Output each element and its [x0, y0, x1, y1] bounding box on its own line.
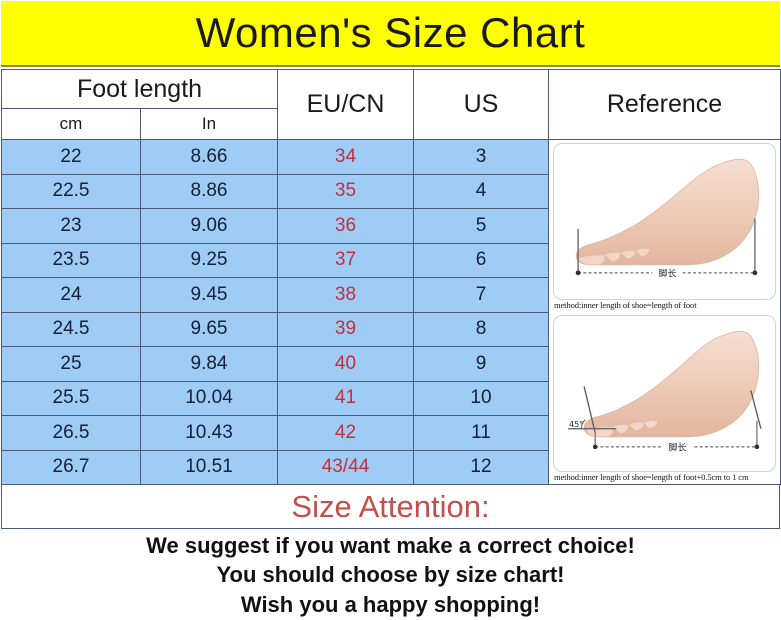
size-attention-heading: Size Attention: [291, 491, 489, 522]
cell-us: 12 [414, 450, 549, 485]
cell-us: 5 [414, 209, 549, 244]
reference-column-cell: 脚长 method:inner length of shoe=length of… [549, 140, 781, 485]
cell-eu-cn: 36 [278, 209, 414, 244]
advice-line-3: Wish you a happy shopping! [241, 590, 540, 619]
cell-us: 6 [414, 243, 549, 278]
header-in: In [141, 109, 278, 140]
chart-title-banner: Women's Size Chart [1, 1, 780, 67]
reference-diagram-1: 脚长 method:inner length of shoe=length of… [549, 140, 780, 312]
cell-us: 4 [414, 174, 549, 209]
cell-in: 10.51 [141, 450, 278, 485]
cell-in: 8.66 [141, 140, 278, 175]
header-us: US [414, 70, 549, 140]
cell-cm: 23 [2, 209, 141, 244]
cell-in: 10.43 [141, 416, 278, 451]
cell-in: 8.86 [141, 174, 278, 209]
header-foot-length: Foot length [2, 70, 278, 109]
cell-eu-cn: 37 [278, 243, 414, 278]
page-title: Women's Size Chart [196, 12, 586, 54]
size-table-body: 22 8.66 34 3 [2, 140, 781, 485]
cell-in: 9.84 [141, 347, 278, 382]
cell-eu-cn: 39 [278, 312, 414, 347]
cell-eu-cn: 40 [278, 347, 414, 382]
cell-cm: 25 [2, 347, 141, 382]
footer-advice-block: We suggest if you want make a correct ch… [1, 529, 780, 619]
header-reference: Reference [549, 70, 781, 140]
angle-label-2: 45° [569, 420, 583, 429]
foot-profile-icon-frame-2: 45° 脚长 [553, 315, 776, 472]
cell-cm: 26.5 [2, 416, 141, 451]
cell-cm: 22.5 [2, 174, 141, 209]
cell-eu-cn: 38 [278, 278, 414, 313]
cell-cm: 24.5 [2, 312, 141, 347]
advice-line-2: You should choose by size chart! [217, 560, 565, 589]
cell-us: 9 [414, 347, 549, 382]
header-eu-cn: EU/CN [278, 70, 414, 140]
cell-cm: 24 [2, 278, 141, 313]
advice-line-1: We suggest if you want make a correct ch… [146, 531, 635, 560]
reference-diagram-2: 45° 脚长 [549, 312, 780, 484]
cell-in: 10.04 [141, 381, 278, 416]
foot-profile-with-angle-and-length-bracket-icon: 45° 脚长 [554, 316, 775, 471]
foot-profile-with-length-bracket-icon: 脚长 [554, 144, 775, 299]
cell-eu-cn: 41 [278, 381, 414, 416]
cell-cm: 22 [2, 140, 141, 175]
reference-caption-1: method:inner length of shoe=length of fo… [553, 300, 776, 312]
cell-eu-cn: 43/44 [278, 450, 414, 485]
dimension-label-2: 脚长 [669, 441, 687, 453]
cell-us: 3 [414, 140, 549, 175]
cell-eu-cn: 34 [278, 140, 414, 175]
cell-cm: 26.7 [2, 450, 141, 485]
table-header-row-group: Foot length EU/CN US Reference [2, 70, 781, 109]
cell-eu-cn: 35 [278, 174, 414, 209]
cell-cm: 23.5 [2, 243, 141, 278]
reference-caption-2: method:inner length of shoe=length of fo… [553, 472, 776, 484]
cell-in: 9.45 [141, 278, 278, 313]
dimension-label-1: 脚长 [658, 267, 676, 279]
size-chart-image: Women's Size Chart Foot length EU/CN US … [0, 0, 781, 620]
header-cm: cm [2, 109, 141, 140]
cell-in: 9.25 [141, 243, 278, 278]
cell-eu-cn: 42 [278, 416, 414, 451]
foot-profile-icon-frame-1: 脚长 [553, 143, 776, 300]
cell-us: 10 [414, 381, 549, 416]
cell-in: 9.06 [141, 209, 278, 244]
size-attention-band: Size Attention: [1, 485, 780, 529]
size-table: Foot length EU/CN US Reference cm In 22 … [1, 69, 781, 485]
cell-in: 9.65 [141, 312, 278, 347]
table-row: 22 8.66 34 3 [2, 140, 781, 175]
size-table-wrapper: Foot length EU/CN US Reference cm In 22 … [1, 69, 780, 485]
cell-cm: 25.5 [2, 381, 141, 416]
cell-us: 7 [414, 278, 549, 313]
cell-us: 8 [414, 312, 549, 347]
cell-us: 11 [414, 416, 549, 451]
